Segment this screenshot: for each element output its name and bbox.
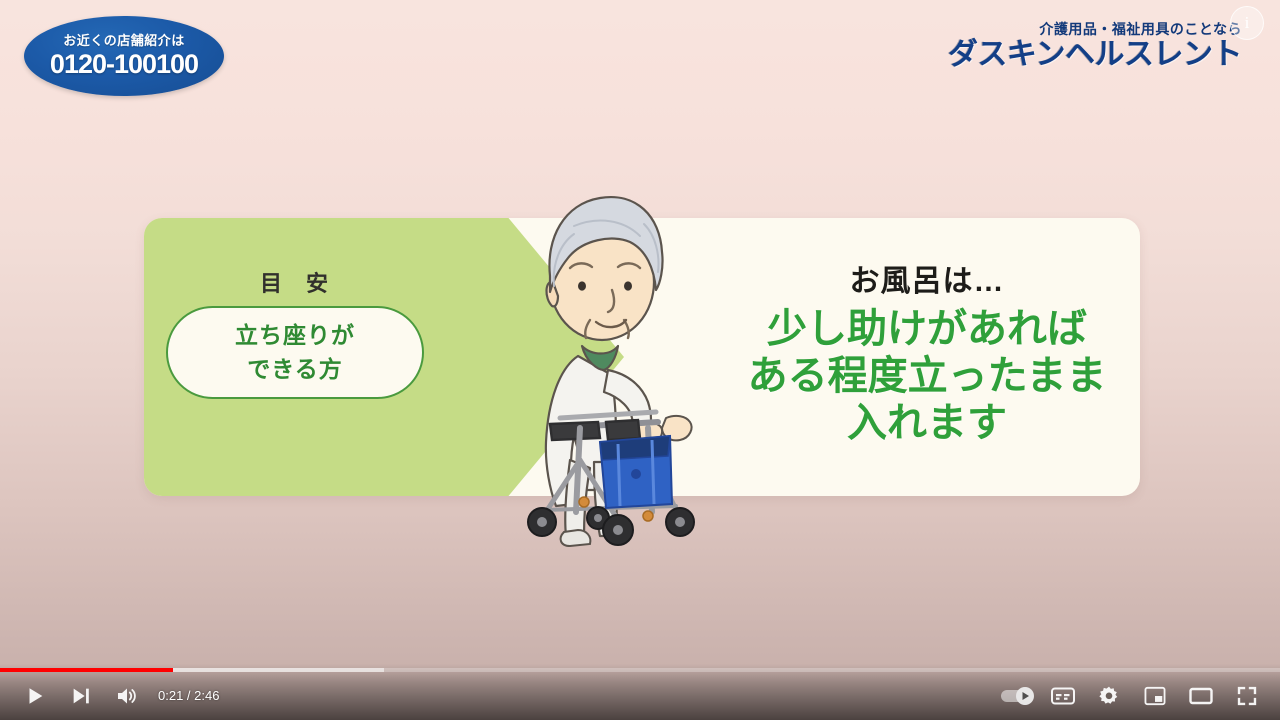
video-frame[interactable]: お近くの店舗紹介は 0120-100100 介護用品・福祉用具のことなら ダスキ…: [0, 0, 1280, 720]
phone-badge-caption: お近くの店舗紹介は: [63, 34, 185, 47]
brand-tagline: 介護用品・福祉用具のことなら: [948, 22, 1242, 37]
brand-name: ダスキンヘルスレント: [948, 39, 1242, 71]
theater-button[interactable]: [1178, 672, 1224, 720]
criteria-line-2: できる方: [247, 353, 343, 386]
elderly-person-illustration: [520, 160, 720, 560]
bath-line-1: 少し助けがあれば: [748, 306, 1107, 353]
phone-number-badge: お近くの店舗紹介は 0120-100100: [24, 16, 224, 96]
settings-button[interactable]: [1086, 672, 1132, 720]
video-player: お近くの店舗紹介は 0120-100100 介護用品・福祉用具のことなら ダスキ…: [0, 0, 1280, 720]
bath-heading: お風呂は…: [850, 267, 1005, 297]
miniplayer-button[interactable]: [1132, 672, 1178, 720]
player-controls-bar: 0:21 / 2:46: [0, 664, 1280, 720]
volume-button[interactable]: [104, 672, 150, 720]
criteria-pill: 立ち座りが できる方: [166, 306, 424, 399]
bath-description: 少し助けがあれば ある程度立ったまま 入れます: [748, 306, 1107, 446]
brand-logo: 介護用品・福祉用具のことなら ダスキンヘルスレント: [948, 22, 1242, 71]
autoplay-toggle[interactable]: [994, 672, 1040, 720]
subtitles-button[interactable]: [1040, 672, 1086, 720]
more-info-icon[interactable]: i: [1230, 6, 1264, 40]
time-display: 0:21 / 2:46: [150, 672, 229, 720]
play-button[interactable]: [12, 672, 58, 720]
phone-badge-number: 0120-100100: [50, 51, 198, 78]
next-button[interactable]: [58, 672, 104, 720]
criteria-heading: 目 安: [144, 266, 444, 298]
criteria-line-1: 立ち座りが: [235, 319, 355, 352]
controls-right-group: [994, 672, 1270, 720]
bath-line-3: 入れます: [748, 400, 1107, 447]
controls-left-group: 0:21 / 2:46: [12, 672, 229, 720]
fullscreen-button[interactable]: [1224, 672, 1270, 720]
bath-line-2: ある程度立ったまま: [748, 353, 1107, 400]
